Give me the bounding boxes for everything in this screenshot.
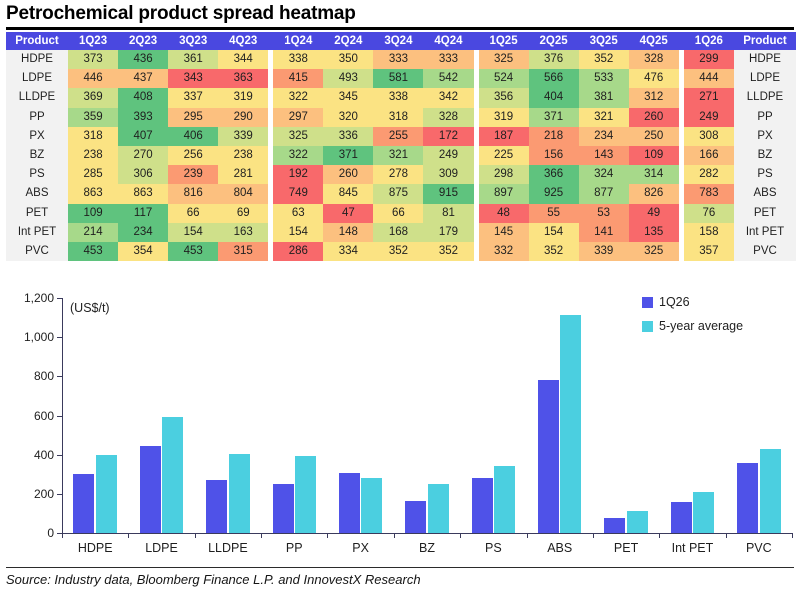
heatmap-cell: 359: [68, 108, 118, 127]
column-header-2q24[interactable]: 2Q24: [323, 32, 373, 50]
row-header-pp: PP: [6, 108, 68, 127]
heatmap-cell: 81: [423, 204, 473, 223]
heatmap-cell: 361: [168, 50, 218, 69]
heatmap-cell: 338: [373, 88, 423, 107]
row-header-right-ldpe: LDPE: [734, 69, 796, 88]
column-header-4q25[interactable]: 4Q25: [629, 32, 679, 50]
heatmap-cell: 339: [218, 127, 268, 146]
heatmap-table-container: Product1Q232Q233Q234Q231Q242Q243Q244Q241…: [6, 32, 796, 261]
heatmap-cell: 290: [218, 108, 268, 127]
heatmap-cell: 156: [529, 146, 579, 165]
row-header-ldpe: LDPE: [6, 69, 68, 88]
heatmap-cell: 260: [323, 165, 373, 184]
heatmap-cell: 877: [579, 184, 629, 203]
bar-pet-5yr-avg: [627, 511, 648, 533]
column-header-2q25[interactable]: 2Q25: [529, 32, 579, 50]
row-header-right-abs: ABS: [734, 184, 796, 203]
heatmap-cell: 239: [168, 165, 218, 184]
heatmap-cell: 214: [68, 223, 118, 242]
x-axis-label-int-pet: Int PET: [659, 541, 725, 555]
heatmap-cell: 321: [373, 146, 423, 165]
heatmap-cell: 168: [373, 223, 423, 242]
heatmap-cell: 333: [423, 50, 473, 69]
column-header-3q24[interactable]: 3Q24: [373, 32, 423, 50]
x-axis-line: [62, 533, 793, 534]
bar-bz-1q26: [405, 501, 426, 534]
heatmap-cell: 332: [479, 242, 529, 261]
heatmap-cell: 48: [479, 204, 529, 223]
heatmap-table: Product1Q232Q233Q234Q231Q242Q243Q244Q241…: [6, 32, 796, 261]
x-axis-label-ldpe: LDPE: [128, 541, 194, 555]
table-row: PX31840740633932533625517218721823425030…: [6, 127, 796, 146]
heatmap-cell: 350: [323, 50, 373, 69]
heatmap-cell: 281: [218, 165, 268, 184]
bar-px-5yr-avg: [361, 478, 382, 533]
heatmap-cell: 325: [273, 127, 323, 146]
heatmap-cell: 749: [273, 184, 323, 203]
heatmap-cell: 437: [118, 69, 168, 88]
heatmap-cell: 320: [323, 108, 373, 127]
table-row: PP35939329529029732031832831937132126024…: [6, 108, 796, 127]
table-row: PVC4533544533152863343523523323523393253…: [6, 242, 796, 261]
heatmap-cell: 408: [118, 88, 168, 107]
column-header-1q23[interactable]: 1Q23: [68, 32, 118, 50]
table-row: HDPE373436361344338350333333325376352328…: [6, 50, 796, 69]
column-header-1q24[interactable]: 1Q24: [273, 32, 323, 50]
column-header-3q25[interactable]: 3Q25: [579, 32, 629, 50]
heatmap-cell: 318: [373, 108, 423, 127]
table-row: Int PET214234154163154148168179145154141…: [6, 223, 796, 242]
heatmap-cell: 319: [218, 88, 268, 107]
x-axis-label-bz: BZ: [394, 541, 460, 555]
title-divider: [6, 27, 794, 30]
heatmap-cell: 826: [629, 184, 679, 203]
x-axis-tick-mark: [527, 533, 528, 538]
legend-label: 5-year average: [659, 320, 743, 333]
heatmap-cell: 148: [323, 223, 373, 242]
bar-lldpe-1q26: [206, 480, 227, 533]
heatmap-cell: 324: [579, 165, 629, 184]
heatmap-cell: 325: [479, 50, 529, 69]
source-divider: [6, 567, 794, 568]
x-axis-tick-mark: [62, 533, 63, 538]
heatmap-cell: 415: [273, 69, 323, 88]
heatmap-cell: 234: [579, 127, 629, 146]
row-header-pet: PET: [6, 204, 68, 223]
bar-int-pet-5yr-avg: [693, 492, 714, 533]
heatmap-cell: 285: [68, 165, 118, 184]
x-axis-label-abs: ABS: [527, 541, 593, 555]
heatmap-cell: 345: [323, 88, 373, 107]
heatmap-cell: 309: [423, 165, 473, 184]
heatmap-cell: 249: [423, 146, 473, 165]
heatmap-cell: 141: [579, 223, 629, 242]
heatmap-cell: 314: [629, 165, 679, 184]
bar-ldpe-1q26: [140, 446, 161, 533]
heatmap-cell: 363: [218, 69, 268, 88]
heatmap-cell: 352: [373, 242, 423, 261]
y-axis-tick-label: 1,000: [6, 331, 54, 343]
heatmap-cell: 339: [579, 242, 629, 261]
table-body: HDPE373436361344338350333333325376352328…: [6, 50, 796, 261]
heatmap-cell: 297: [273, 108, 323, 127]
heatmap-cell: 342: [423, 88, 473, 107]
row-header-right-lldpe: LLDPE: [734, 88, 796, 107]
heatmap-cell: 376: [529, 50, 579, 69]
legend-label: 1Q26: [659, 296, 690, 309]
bar-pvc-1q26: [737, 463, 758, 533]
row-header-right-hdpe: HDPE: [734, 50, 796, 69]
heatmap-cell: 925: [529, 184, 579, 203]
heatmap-cell: 63: [273, 204, 323, 223]
heatmap-cell: 542: [423, 69, 473, 88]
heatmap-cell: 444: [684, 69, 734, 88]
source-note: Source: Industry data, Bloomberg Finance…: [6, 572, 421, 587]
heatmap-cell: 158: [684, 223, 734, 242]
heatmap-cell: 255: [373, 127, 423, 146]
heatmap-cell: 352: [423, 242, 473, 261]
y-axis-tick-label: 800: [6, 370, 54, 382]
heatmap-cell: 135: [629, 223, 679, 242]
report-page: Petrochemical product spread heatmap Pro…: [0, 0, 802, 595]
row-header-right-pet: PET: [734, 204, 796, 223]
y-axis-tick-label: 600: [6, 410, 54, 422]
bar-hdpe-1q26: [73, 474, 94, 533]
x-axis-tick-mark: [792, 533, 793, 538]
heatmap-cell: 436: [118, 50, 168, 69]
column-header-2q23[interactable]: 2Q23: [118, 32, 168, 50]
heatmap-cell: 143: [579, 146, 629, 165]
row-header-right-bz: BZ: [734, 146, 796, 165]
heatmap-cell: 249: [684, 108, 734, 127]
heatmap-cell: 343: [168, 69, 218, 88]
heatmap-cell: 373: [68, 50, 118, 69]
heatmap-cell: 286: [273, 242, 323, 261]
x-axis-tick-mark: [261, 533, 262, 538]
heatmap-cell: 49: [629, 204, 679, 223]
x-axis-tick-mark: [327, 533, 328, 538]
x-axis-tick-mark: [726, 533, 727, 538]
bar-chart: (US$/t) 02004006008001,0001,200 HDPELDPE…: [6, 288, 796, 563]
heatmap-cell: 319: [479, 108, 529, 127]
heatmap-cell: 117: [118, 204, 168, 223]
heatmap-cell: 154: [273, 223, 323, 242]
row-header-right-pvc: PVC: [734, 242, 796, 261]
heatmap-cell: 845: [323, 184, 373, 203]
heatmap-cell: 66: [373, 204, 423, 223]
heatmap-cell: 446: [68, 69, 118, 88]
heatmap-cell: 53: [579, 204, 629, 223]
row-header-right-px: PX: [734, 127, 796, 146]
heatmap-cell: 406: [168, 127, 218, 146]
heatmap-cell: 863: [118, 184, 168, 203]
heatmap-cell: 352: [579, 50, 629, 69]
bar-ps-5yr-avg: [494, 466, 515, 533]
heatmap-cell: 369: [68, 88, 118, 107]
table-corner-header-left: Product: [6, 32, 68, 50]
heatmap-cell: 76: [684, 204, 734, 223]
bar-int-pet-1q26: [671, 502, 692, 533]
bar-px-1q26: [339, 473, 360, 533]
x-axis-label-px: PX: [327, 541, 393, 555]
row-header-hdpe: HDPE: [6, 50, 68, 69]
heatmap-cell: 192: [273, 165, 323, 184]
heatmap-cell: 250: [629, 127, 679, 146]
column-header-1q25[interactable]: 1Q25: [479, 32, 529, 50]
x-axis-label-pp: PP: [261, 541, 327, 555]
row-header-abs: ABS: [6, 184, 68, 203]
bar-pet-1q26: [604, 518, 625, 533]
bar-bz-5yr-avg: [428, 484, 449, 533]
legend-item-5-year-average[interactable]: 5-year average: [642, 320, 743, 333]
column-header-4q24[interactable]: 4Q24: [423, 32, 473, 50]
heatmap-cell: 47: [323, 204, 373, 223]
column-header-3q23[interactable]: 3Q23: [168, 32, 218, 50]
row-header-right-pp: PP: [734, 108, 796, 127]
x-axis-tick-mark: [394, 533, 395, 538]
heatmap-cell: 238: [218, 146, 268, 165]
heatmap-cell: 163: [218, 223, 268, 242]
heatmap-cell: 312: [629, 88, 679, 107]
heatmap-cell: 271: [684, 88, 734, 107]
x-axis-label-lldpe: LLDPE: [195, 541, 261, 555]
heatmap-cell: 322: [273, 146, 323, 165]
row-header-pvc: PVC: [6, 242, 68, 261]
heatmap-cell: 321: [579, 108, 629, 127]
x-axis-tick-mark: [460, 533, 461, 538]
heatmap-cell: 172: [423, 127, 473, 146]
heatmap-cell: 55: [529, 204, 579, 223]
heatmap-cell: 336: [323, 127, 373, 146]
bar-hdpe-5yr-avg: [96, 455, 117, 533]
heatmap-cell: 357: [684, 242, 734, 261]
heatmap-cell: 356: [479, 88, 529, 107]
heatmap-cell: 566: [529, 69, 579, 88]
heatmap-cell: 295: [168, 108, 218, 127]
heatmap-cell: 407: [118, 127, 168, 146]
bar-pp-1q26: [273, 484, 294, 533]
heatmap-cell: 69: [218, 204, 268, 223]
heatmap-cell: 166: [684, 146, 734, 165]
row-header-right-ps: PS: [734, 165, 796, 184]
table-corner-header-right: Product: [734, 32, 796, 50]
table-row: ABS8638638168047498458759158979258778267…: [6, 184, 796, 203]
column-header-1q26[interactable]: 1Q26: [684, 32, 734, 50]
bar-ldpe-5yr-avg: [162, 417, 183, 533]
heatmap-cell: 338: [273, 50, 323, 69]
heatmap-cell: 282: [684, 165, 734, 184]
heatmap-cell: 393: [118, 108, 168, 127]
table-header: Product1Q232Q233Q234Q231Q242Q243Q244Q241…: [6, 32, 796, 50]
heatmap-cell: 315: [218, 242, 268, 261]
bar-ps-1q26: [472, 478, 493, 533]
x-axis-label-ps: PS: [460, 541, 526, 555]
heatmap-cell: 234: [118, 223, 168, 242]
heatmap-cell: 225: [479, 146, 529, 165]
heatmap-cell: 154: [168, 223, 218, 242]
row-header-int-pet: Int PET: [6, 223, 68, 242]
chart-legend: 1Q265-year average: [642, 296, 743, 344]
heatmap-cell: 109: [629, 146, 679, 165]
heatmap-cell: 154: [529, 223, 579, 242]
x-axis-label-hdpe: HDPE: [62, 541, 128, 555]
heatmap-cell: 325: [629, 242, 679, 261]
heatmap-cell: 238: [68, 146, 118, 165]
heatmap-cell: 863: [68, 184, 118, 203]
heatmap-cell: 187: [479, 127, 529, 146]
heatmap-cell: 897: [479, 184, 529, 203]
heatmap-cell: 371: [529, 108, 579, 127]
heatmap-cell: 270: [118, 146, 168, 165]
y-axis-tick-label: 400: [6, 449, 54, 461]
table-row: PS28530623928119226027830929836632431428…: [6, 165, 796, 184]
row-header-bz: BZ: [6, 146, 68, 165]
x-axis-label-pet: PET: [593, 541, 659, 555]
heatmap-cell: 816: [168, 184, 218, 203]
heatmap-cell: 333: [373, 50, 423, 69]
heatmap-cell: 145: [479, 223, 529, 242]
heatmap-cell: 66: [168, 204, 218, 223]
legend-item-1q26[interactable]: 1Q26: [642, 296, 743, 309]
heatmap-cell: 783: [684, 184, 734, 203]
heatmap-cell: 306: [118, 165, 168, 184]
x-axis-tick-mark: [195, 533, 196, 538]
legend-swatch-icon: [642, 321, 653, 332]
heatmap-cell: 298: [479, 165, 529, 184]
row-header-lldpe: LLDPE: [6, 88, 68, 107]
heatmap-cell: 404: [529, 88, 579, 107]
heatmap-cell: 533: [579, 69, 629, 88]
heatmap-cell: 328: [629, 50, 679, 69]
bar-abs-5yr-avg: [560, 315, 581, 533]
legend-swatch-icon: [642, 297, 653, 308]
heatmap-cell: 109: [68, 204, 118, 223]
heatmap-cell: 322: [273, 88, 323, 107]
heatmap-cell: 328: [423, 108, 473, 127]
x-axis-tick-mark: [659, 533, 660, 538]
heatmap-cell: 453: [68, 242, 118, 261]
table-row: LLDPE36940833731932234533834235640438131…: [6, 88, 796, 107]
heatmap-cell: 581: [373, 69, 423, 88]
heatmap-cell: 915: [423, 184, 473, 203]
bar-pvc-5yr-avg: [760, 449, 781, 533]
heatmap-cell: 476: [629, 69, 679, 88]
heatmap-cell: 493: [323, 69, 373, 88]
y-axis-tick-label: 1,200: [6, 292, 54, 304]
heatmap-cell: 381: [579, 88, 629, 107]
x-axis-tick-mark: [128, 533, 129, 538]
heatmap-cell: 875: [373, 184, 423, 203]
heatmap-cell: 371: [323, 146, 373, 165]
header-row: Product1Q232Q233Q234Q231Q242Q243Q244Q241…: [6, 32, 796, 50]
heatmap-cell: 804: [218, 184, 268, 203]
heatmap-cell: 352: [529, 242, 579, 261]
heatmap-cell: 179: [423, 223, 473, 242]
table-row: BZ23827025623832237132124922515614310916…: [6, 146, 796, 165]
heatmap-cell: 354: [118, 242, 168, 261]
heatmap-cell: 334: [323, 242, 373, 261]
heatmap-cell: 337: [168, 88, 218, 107]
page-title: Petrochemical product spread heatmap: [6, 2, 796, 26]
bar-pp-5yr-avg: [295, 456, 316, 533]
x-axis-tick-mark: [593, 533, 594, 538]
heatmap-cell: 218: [529, 127, 579, 146]
x-axis-label-pvc: PVC: [726, 541, 792, 555]
row-header-right-int-pet: Int PET: [734, 223, 796, 242]
heatmap-cell: 308: [684, 127, 734, 146]
heatmap-cell: 453: [168, 242, 218, 261]
heatmap-cell: 344: [218, 50, 268, 69]
heatmap-cell: 299: [684, 50, 734, 69]
y-axis-tick-label: 0: [6, 527, 54, 539]
heatmap-cell: 278: [373, 165, 423, 184]
table-row: PET1091176669634766814855534976PET: [6, 204, 796, 223]
heatmap-cell: 256: [168, 146, 218, 165]
heatmap-cell: 318: [68, 127, 118, 146]
y-axis-tick-label: 200: [6, 488, 54, 500]
table-row: LDPE446437343363415493581542524566533476…: [6, 69, 796, 88]
bar-lldpe-5yr-avg: [229, 454, 250, 533]
heatmap-cell: 260: [629, 108, 679, 127]
row-header-ps: PS: [6, 165, 68, 184]
heatmap-cell: 366: [529, 165, 579, 184]
bar-abs-1q26: [538, 380, 559, 533]
heatmap-cell: 524: [479, 69, 529, 88]
column-header-4q23[interactable]: 4Q23: [218, 32, 268, 50]
row-header-px: PX: [6, 127, 68, 146]
